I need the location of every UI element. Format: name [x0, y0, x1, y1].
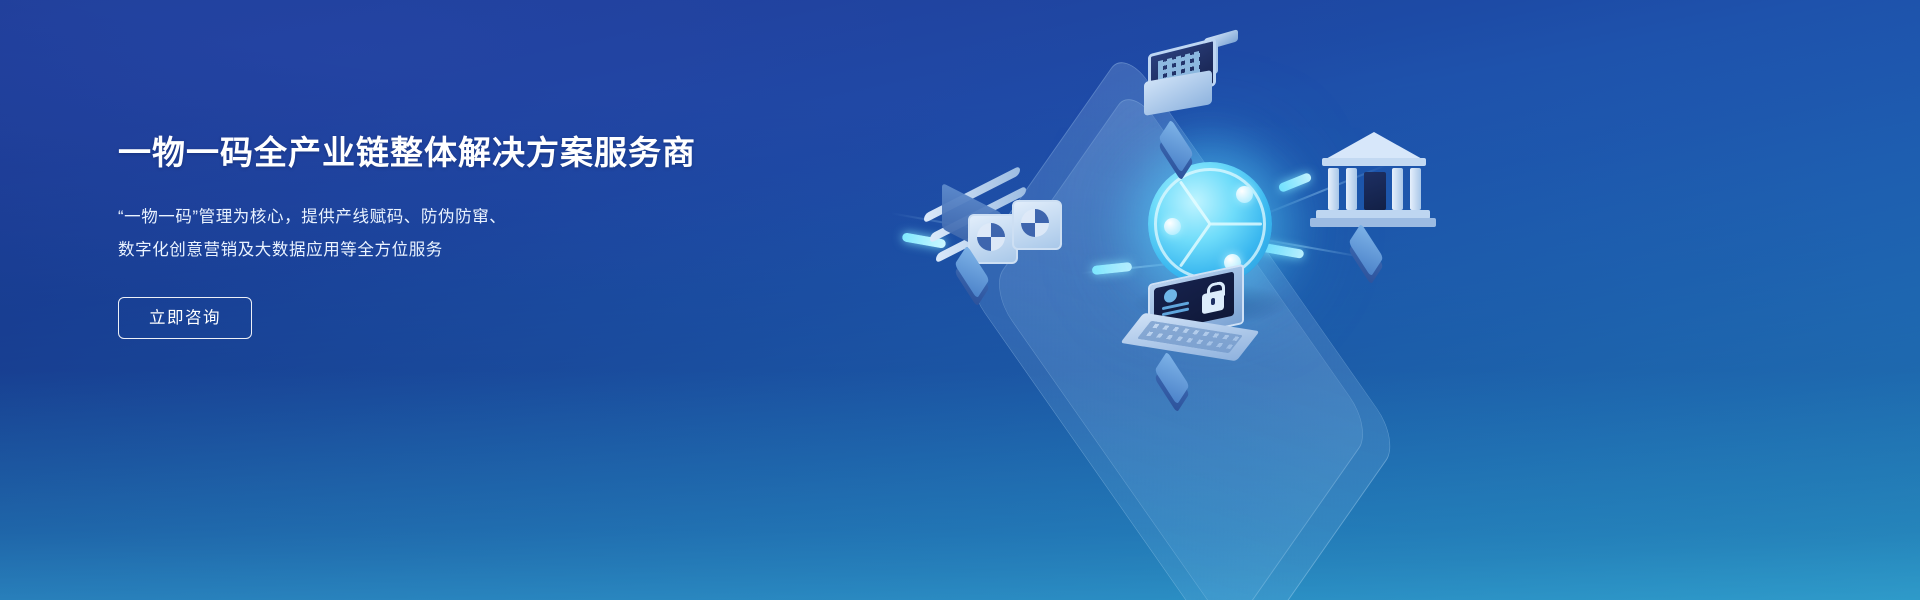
consult-now-button[interactable]: 立即咨询 — [118, 297, 252, 340]
page-title: 一物一码全产业链整体解决方案服务商 — [118, 132, 838, 175]
sphere-node-top-right — [1236, 186, 1253, 203]
avatar — [1164, 288, 1177, 304]
pedestal-pos — [1156, 126, 1212, 160]
hero-illustration — [880, 0, 1680, 600]
hero-banner: 一物一码全产业链整体解决方案服务商 “一物一码”管理为核心，提供产线赋码、防伪防… — [0, 0, 1920, 600]
sphere-node-left — [1164, 218, 1181, 235]
bank-doorway — [1364, 172, 1386, 210]
subtitle-line-1: “一物一码”管理为核心，提供产线赋码、防伪防窜、 — [118, 201, 838, 234]
pedestal-bank — [1346, 230, 1402, 264]
pedestal-laptop — [1152, 358, 1208, 392]
network-sphere-icon — [1148, 162, 1272, 286]
cash-register-icon — [1132, 34, 1242, 130]
bank-roof — [1324, 132, 1424, 160]
bank-column-1 — [1328, 168, 1339, 210]
bank-icon — [1318, 132, 1428, 236]
laptop-lock-icon — [1130, 274, 1260, 370]
bank-column-2 — [1346, 168, 1357, 210]
bank-base-2 — [1310, 218, 1436, 227]
sphere-spoke-2 — [1210, 223, 1262, 226]
banner-copy-block: 一物一码全产业链整体解决方案服务商 “一物一码”管理为核心，提供产线赋码、防伪防… — [118, 132, 838, 339]
banner-subtitle: “一物一码”管理为核心，提供产线赋码、防伪防窜、 数字化创意营销及大数据应用等全… — [118, 201, 838, 267]
subtitle-line-2: 数字化创意营销及大数据应用等全方位服务 — [118, 234, 838, 267]
data-pulse-right — [1278, 172, 1313, 193]
pedestal-server — [952, 252, 1008, 286]
bank-column-4 — [1410, 168, 1421, 210]
bank-column-3 — [1392, 168, 1403, 210]
bank-entablature — [1322, 158, 1426, 166]
rack-fan-2 — [1012, 200, 1062, 250]
